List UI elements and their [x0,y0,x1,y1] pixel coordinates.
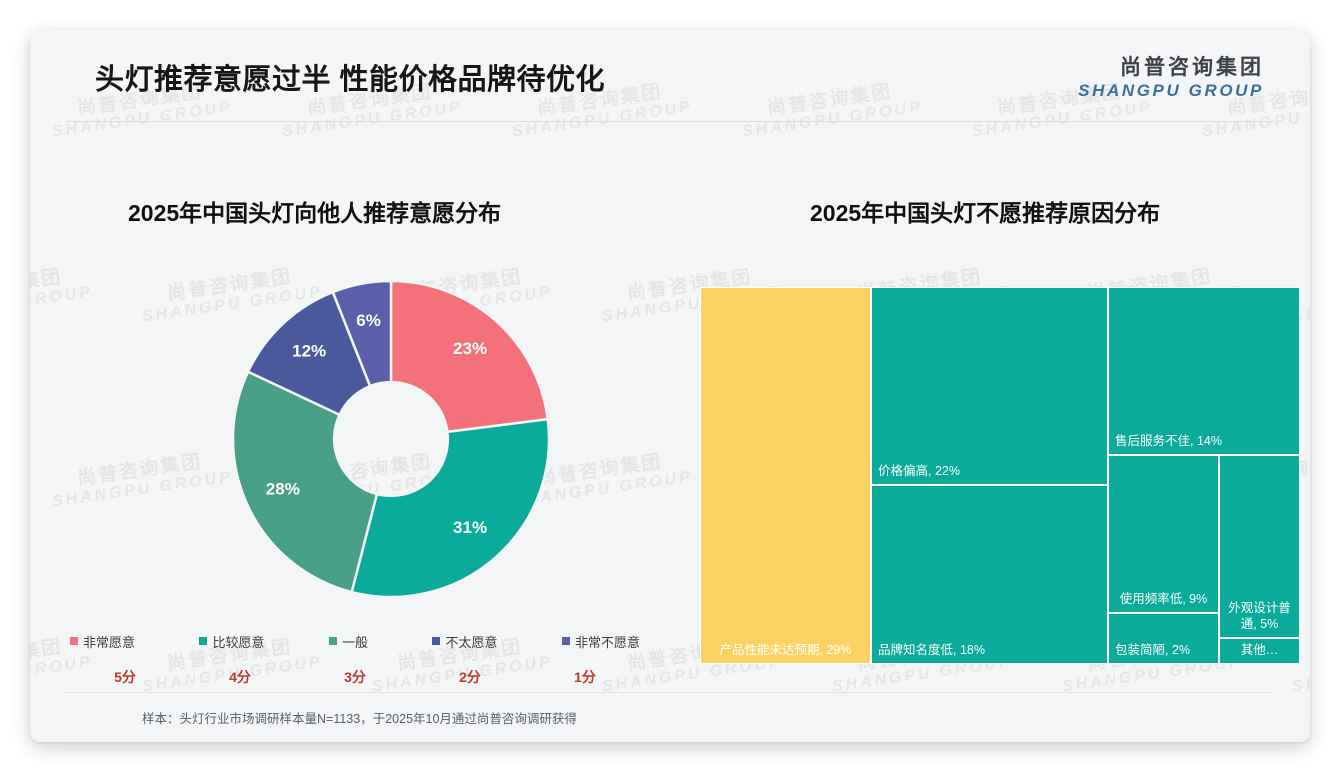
legend-item-label: 一般 [342,632,368,651]
logo-en-text: SHANGPU GROUP [1078,82,1264,100]
report-card: 尚普咨询集团SHANGPU GROUP尚普咨询集团SHANGPU GROUP尚普… [30,30,1310,742]
donut-slice[interactable] [352,419,549,597]
legend-item-3[interactable]: 一般 [329,632,368,651]
treemap-tile-label: 其他… [1223,642,1296,658]
treemap-tile[interactable]: 品牌知名度低, 18% [871,485,1108,664]
right-chart-title: 2025年中国头灯不愿推荐原因分布 [810,194,1160,228]
treemap-tile-label: 价格偏高, 22% [878,463,1103,479]
score-label-1: 5分 [70,667,180,687]
legend-swatch-icon [562,637,570,645]
page-title: 头灯推荐意愿过半 性能价格品牌待优化 [95,56,605,98]
legend-item-label: 非常不愿意 [575,632,640,651]
score-label-2: 4分 [185,667,295,687]
treemap-chart: 产品性能未达预期, 29%价格偏高, 22%品牌知名度低, 18%售后服务不佳,… [700,287,1300,664]
donut-slice[interactable] [233,372,377,592]
donut-slice-label: 31% [453,518,487,537]
panel-reasons-not-recommend: 2025年中国头灯不愿推荐原因分布 产品性能未达预期, 29%价格偏高, 22%… [670,122,1310,702]
panel-recommendation-willingness: 2025年中国头灯向他人推荐意愿分布 23%31%28%12%6% 非常愿意比较… [30,122,670,702]
legend-swatch-icon [329,637,337,645]
card-header: 头灯推荐意愿过半 性能价格品牌待优化 尚普咨询集团 SHANGPU GROUP [30,30,1310,122]
legend-swatch-icon [432,637,440,645]
slide-stage: 尚普咨询集团SHANGPU GROUP尚普咨询集团SHANGPU GROUP尚普… [0,0,1340,780]
treemap-tile[interactable]: 外观设计普通, 5% [1219,455,1300,638]
treemap-tile-label: 外观设计普通, 5% [1223,600,1296,632]
treemap-tile-label: 售后服务不佳, 14% [1115,433,1295,449]
sample-note: 样本：头灯行业市场调研样本量N=1133，于2025年10月通过尚普咨询调研获得 [142,708,577,727]
header-divider [66,121,1274,122]
legend-item-label: 不太愿意 [445,632,497,651]
treemap-tile-label: 包装简陋, 2% [1115,642,1214,658]
legend-item-5[interactable]: 非常不愿意 [562,632,640,651]
treemap-tile[interactable]: 包装简陋, 2% [1108,613,1219,664]
donut-slice-label: 12% [292,341,326,360]
legend-swatch-icon [199,637,207,645]
legend-item-2[interactable]: 比较愿意 [199,632,264,651]
note-divider [66,692,1274,693]
legend-item-label: 比较愿意 [212,632,264,651]
treemap-tile[interactable]: 价格偏高, 22% [871,287,1108,485]
score-label-4: 2分 [415,667,525,687]
treemap-tile[interactable]: 使用频率低, 9% [1108,455,1219,613]
left-chart-title: 2025年中国头灯向他人推荐意愿分布 [128,194,501,228]
brand-logo: 尚普咨询集团 SHANGPU GROUP [1078,57,1264,100]
legend-item-label: 非常愿意 [83,632,135,651]
logo-cn-text: 尚普咨询集团 [1078,57,1264,80]
treemap-tile-label: 品牌知名度低, 18% [878,642,1103,658]
treemap-tile-label: 使用频率低, 9% [1112,591,1215,607]
legend-item-1[interactable]: 非常愿意 [70,632,135,651]
treemap-tile-label: 产品性能未达预期, 29% [704,642,867,658]
treemap-tile[interactable]: 其他… [1219,638,1300,664]
donut-slice-label: 6% [356,311,381,330]
donut-score-row: 5分4分3分2分1分 [70,665,640,689]
donut-chart: 23%31%28%12%6% [226,274,556,604]
score-label-5: 1分 [530,667,640,687]
treemap-tile[interactable]: 产品性能未达预期, 29% [700,287,871,664]
donut-legend: 非常愿意比较愿意一般不太愿意非常不愿意 [70,627,640,655]
donut-slice-label: 23% [453,339,487,358]
score-label-3: 3分 [300,667,410,687]
legend-swatch-icon [70,637,78,645]
treemap-tile[interactable]: 售后服务不佳, 14% [1108,287,1300,455]
donut-slice-label: 28% [266,479,300,498]
legend-item-4[interactable]: 不太愿意 [432,632,497,651]
